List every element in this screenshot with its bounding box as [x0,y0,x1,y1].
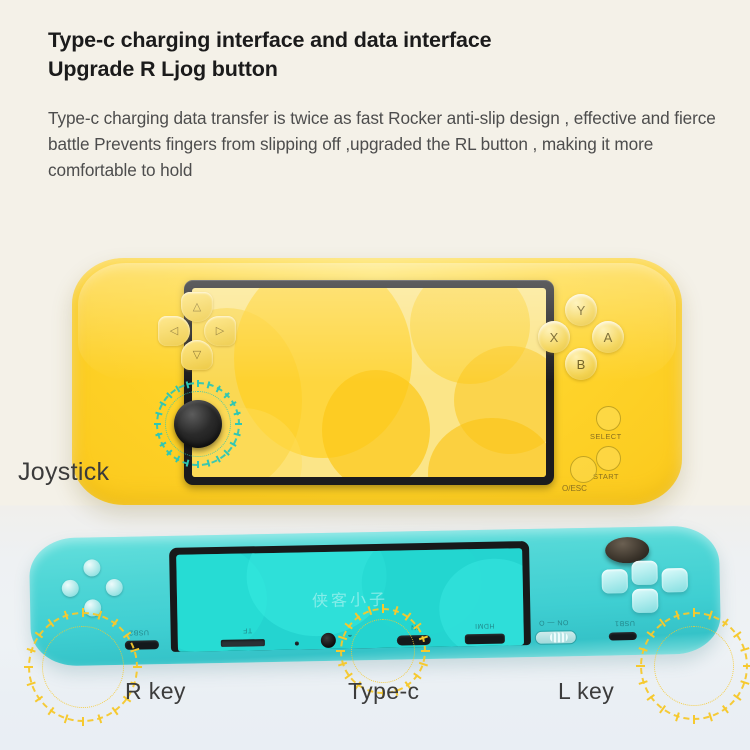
power-switch-label: ON — O [538,618,568,626]
dpad-down-icon: ▽ [193,350,201,361]
callout-r-key-label: R key [125,678,186,705]
yellow-screen [192,288,546,477]
callout-joystick-label: Joystick [18,458,109,487]
highlight-ring-l-key [640,612,748,720]
dpad-left-icon: ◁ [170,326,178,337]
analog-joystick[interactable] [174,400,222,448]
usb1-port[interactable] [609,632,637,641]
usb2-port-label: USB2 [129,628,149,635]
highlight-tick [24,666,33,668]
select-button[interactable] [596,406,621,431]
screen-bubble [428,418,546,477]
headline-line-2: Upgrade R Ljog button [48,55,720,84]
highlight-ring-inner [654,626,734,706]
power-switch-knob [550,632,568,642]
joystick-highlight-group [156,382,240,466]
dpad: △ ◁ ▷ ▽ [158,292,236,370]
headphone-jack[interactable] [321,633,336,648]
highlight-tick [82,717,84,726]
highlight-tick [693,608,695,617]
button-x-label: X [550,330,559,345]
yellow-handheld-console: △ ◁ ▷ ▽ Y X A B SELECT START O/ESC [72,258,682,505]
highlight-ring-inner [351,619,415,683]
start-button[interactable] [596,446,621,471]
usb1-port-label: USB1 [614,619,634,626]
highlight-tick [382,604,384,613]
highlight-tick [197,380,199,387]
headline: Type-c charging interface and data inter… [48,26,720,83]
teal-face-button-cluster [597,544,694,618]
dpad-right-button[interactable]: ▷ [204,316,236,346]
hdmi-port-label: HDMI [475,622,495,629]
dpad-up-icon: △ [193,302,201,313]
power-switch[interactable] [535,630,577,645]
page-root: Type-c charging interface and data inter… [0,0,750,750]
dpad-down-button[interactable]: ▽ [181,340,213,370]
teal-dpad-up-button[interactable] [83,559,100,576]
highlight-tick [154,423,161,425]
teal-analog-joystick[interactable] [605,537,649,564]
teal-button-x[interactable] [602,569,628,593]
dpad-right-icon: ▷ [216,326,224,337]
teal-button-b[interactable] [632,589,658,613]
button-b[interactable]: B [565,348,597,380]
headline-line-1: Type-c charging interface and data inter… [48,26,720,55]
face-button-cluster: Y X A B [538,294,624,380]
callout-l-key-label: L key [558,678,614,705]
highlight-ring-r-key [28,612,138,722]
screen-bubble [322,370,430,477]
select-label: SELECT [590,432,622,441]
highlight-tick [235,423,242,425]
oesc-button[interactable] [570,456,597,483]
button-y-label: Y [577,303,586,318]
highlight-tick [636,665,645,667]
teal-dpad-cluster [61,558,148,618]
highlight-tick [743,665,750,667]
screen-watermark: 侠客小子 [312,585,388,610]
button-y[interactable]: Y [565,294,597,326]
highlight-tick [133,666,142,668]
highlight-tick [336,650,345,652]
dpad-up-button[interactable]: △ [181,292,213,322]
teal-button-a[interactable] [662,568,688,592]
card-slot-label: TF [243,626,253,633]
highlight-tick [421,650,430,652]
reset-pinhole[interactable] [295,641,299,645]
button-a-label: A [604,330,613,345]
card-slot[interactable] [221,639,265,647]
teal-button-y[interactable] [631,561,657,585]
body-copy: Type-c charging data transfer is twice a… [48,105,720,183]
callout-typec-label: Type-c [348,678,419,705]
hdmi-port[interactable] [465,634,505,645]
highlight-tick [82,608,84,617]
button-b-label: B [577,357,586,372]
teal-dpad-right-button[interactable] [106,579,123,596]
dpad-left-button[interactable]: ◁ [158,316,190,346]
teal-dpad-left-button[interactable] [62,580,79,597]
button-x[interactable]: X [538,321,570,353]
highlight-tick [197,461,199,468]
highlight-tick [693,715,695,724]
highlight-ring-inner [42,626,123,707]
button-a[interactable]: A [592,321,624,353]
oesc-label: O/ESC [562,484,587,493]
start-label: START [593,472,619,481]
text-block: Type-c charging interface and data inter… [48,26,720,184]
